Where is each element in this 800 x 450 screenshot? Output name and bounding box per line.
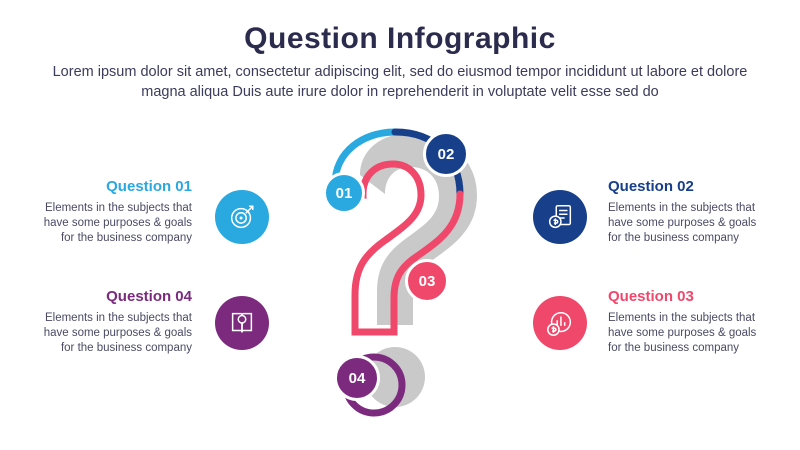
text-block-question-02: Question 02 Elements in the subjects tha… xyxy=(608,178,760,246)
badge-01[interactable]: 01 xyxy=(323,172,365,214)
body-question-02: Elements in the subjects that have some … xyxy=(608,201,760,246)
text-block-question-03: Question 03 Elements in the subjects tha… xyxy=(608,288,760,356)
icon-circle-question-04[interactable] xyxy=(215,296,269,350)
body-question-04: Elements in the subjects that have some … xyxy=(40,311,192,356)
heading-question-03: Question 03 xyxy=(608,288,760,306)
infographic-canvas: Question Infographic Lorem ipsum dolor s… xyxy=(0,0,800,450)
chart-coin-icon xyxy=(545,308,575,338)
badge-02[interactable]: 02 xyxy=(423,131,469,177)
book-idea-icon xyxy=(227,308,257,338)
heading-question-02: Question 02 xyxy=(608,178,760,196)
badge-04[interactable]: 04 xyxy=(334,355,380,401)
heading-question-01: Question 01 xyxy=(40,178,192,196)
body-question-03: Elements in the subjects that have some … xyxy=(608,311,760,356)
icon-circle-question-01[interactable] xyxy=(215,190,269,244)
target-arrow-icon xyxy=(227,202,257,232)
body-question-01: Elements in the subjects that have some … xyxy=(40,201,192,246)
text-block-question-01: Question 01 Elements in the subjects tha… xyxy=(40,178,192,246)
icon-circle-question-03[interactable] xyxy=(533,296,587,350)
icon-circle-question-02[interactable] xyxy=(533,190,587,244)
page-subtitle: Lorem ipsum dolor sit amet, consectetur … xyxy=(30,62,770,102)
heading-question-04: Question 04 xyxy=(40,288,192,306)
text-block-question-04: Question 04 Elements in the subjects tha… xyxy=(40,288,192,356)
document-money-icon xyxy=(545,202,575,232)
badge-03[interactable]: 03 xyxy=(405,259,449,303)
page-title: Question Infographic xyxy=(0,22,800,56)
